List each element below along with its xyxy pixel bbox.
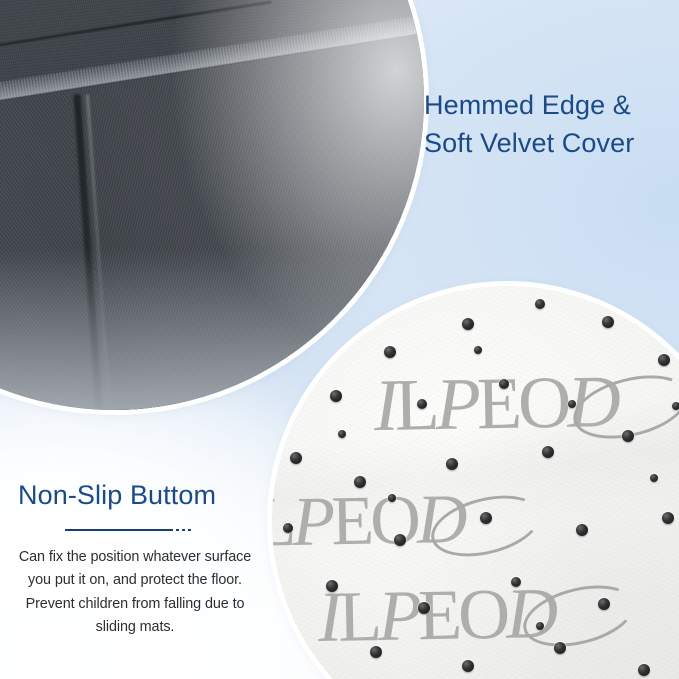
silicone-grip-dot bbox=[650, 474, 658, 482]
silicone-grip-dot bbox=[554, 642, 566, 654]
feature-title: Non-Slip Buttom bbox=[8, 480, 262, 511]
silicone-grip-dot bbox=[638, 664, 650, 676]
silicone-grip-dot bbox=[474, 346, 482, 354]
title-divider bbox=[8, 522, 262, 540]
silicone-grip-dot bbox=[499, 379, 509, 389]
silicone-grip-dot bbox=[576, 524, 588, 536]
feature-body-text: Can fix the position whatever surface yo… bbox=[8, 546, 262, 639]
silicone-grip-dot bbox=[290, 452, 302, 464]
silicone-grip-dot bbox=[338, 430, 346, 438]
silicone-grip-dot bbox=[536, 622, 544, 630]
silicone-grip-dot bbox=[542, 446, 554, 458]
silicone-grip-dot bbox=[417, 399, 427, 409]
silicone-grip-dot bbox=[598, 598, 610, 610]
headline-hemmed-edge: Hemmed Edge & Soft Velvet Cover bbox=[424, 86, 674, 163]
silicone-grip-dot bbox=[394, 534, 406, 546]
mat-surface: ILPEOD ILPEOD ILPEOD bbox=[272, 286, 679, 679]
infographic-canvas: ILPEOD ILPEOD ILPEOD Hemmed Edge & Soft … bbox=[0, 0, 679, 679]
silicone-grip-dot bbox=[462, 318, 474, 330]
silicone-grip-dot bbox=[354, 476, 366, 488]
non-slip-mat-photo: ILPEOD ILPEOD ILPEOD bbox=[272, 286, 679, 679]
silicone-grip-dot bbox=[568, 400, 576, 408]
silicone-grip-dot bbox=[511, 577, 521, 587]
silicone-grip-dot bbox=[388, 494, 396, 502]
silicone-grip-dot bbox=[384, 346, 396, 358]
silicone-grip-dot bbox=[370, 646, 382, 658]
silicone-grip-dot bbox=[418, 602, 430, 614]
silicone-grip-dot bbox=[672, 402, 679, 410]
silicone-grip-dot bbox=[535, 299, 545, 309]
silicone-grip-dot bbox=[446, 458, 458, 470]
headline-line-2: Soft Velvet Cover bbox=[424, 124, 674, 162]
headline-line-1: Hemmed Edge & bbox=[424, 90, 631, 120]
silicone-grip-dot bbox=[462, 660, 474, 672]
silicone-grip-dot bbox=[658, 354, 670, 366]
silicone-grip-dot bbox=[283, 523, 293, 533]
silicone-grip-dot bbox=[330, 390, 342, 402]
silicone-grip-dot bbox=[480, 512, 492, 524]
divider-line bbox=[65, 529, 173, 531]
silicone-grip-dot bbox=[662, 512, 674, 524]
silicone-grip-dot bbox=[326, 580, 338, 592]
feature-block-non-slip: Non-Slip Buttom Can fix the position wha… bbox=[8, 480, 262, 639]
silicone-grip-dot bbox=[622, 430, 634, 442]
silicone-grip-dot bbox=[602, 316, 614, 328]
divider-dots bbox=[176, 529, 192, 531]
